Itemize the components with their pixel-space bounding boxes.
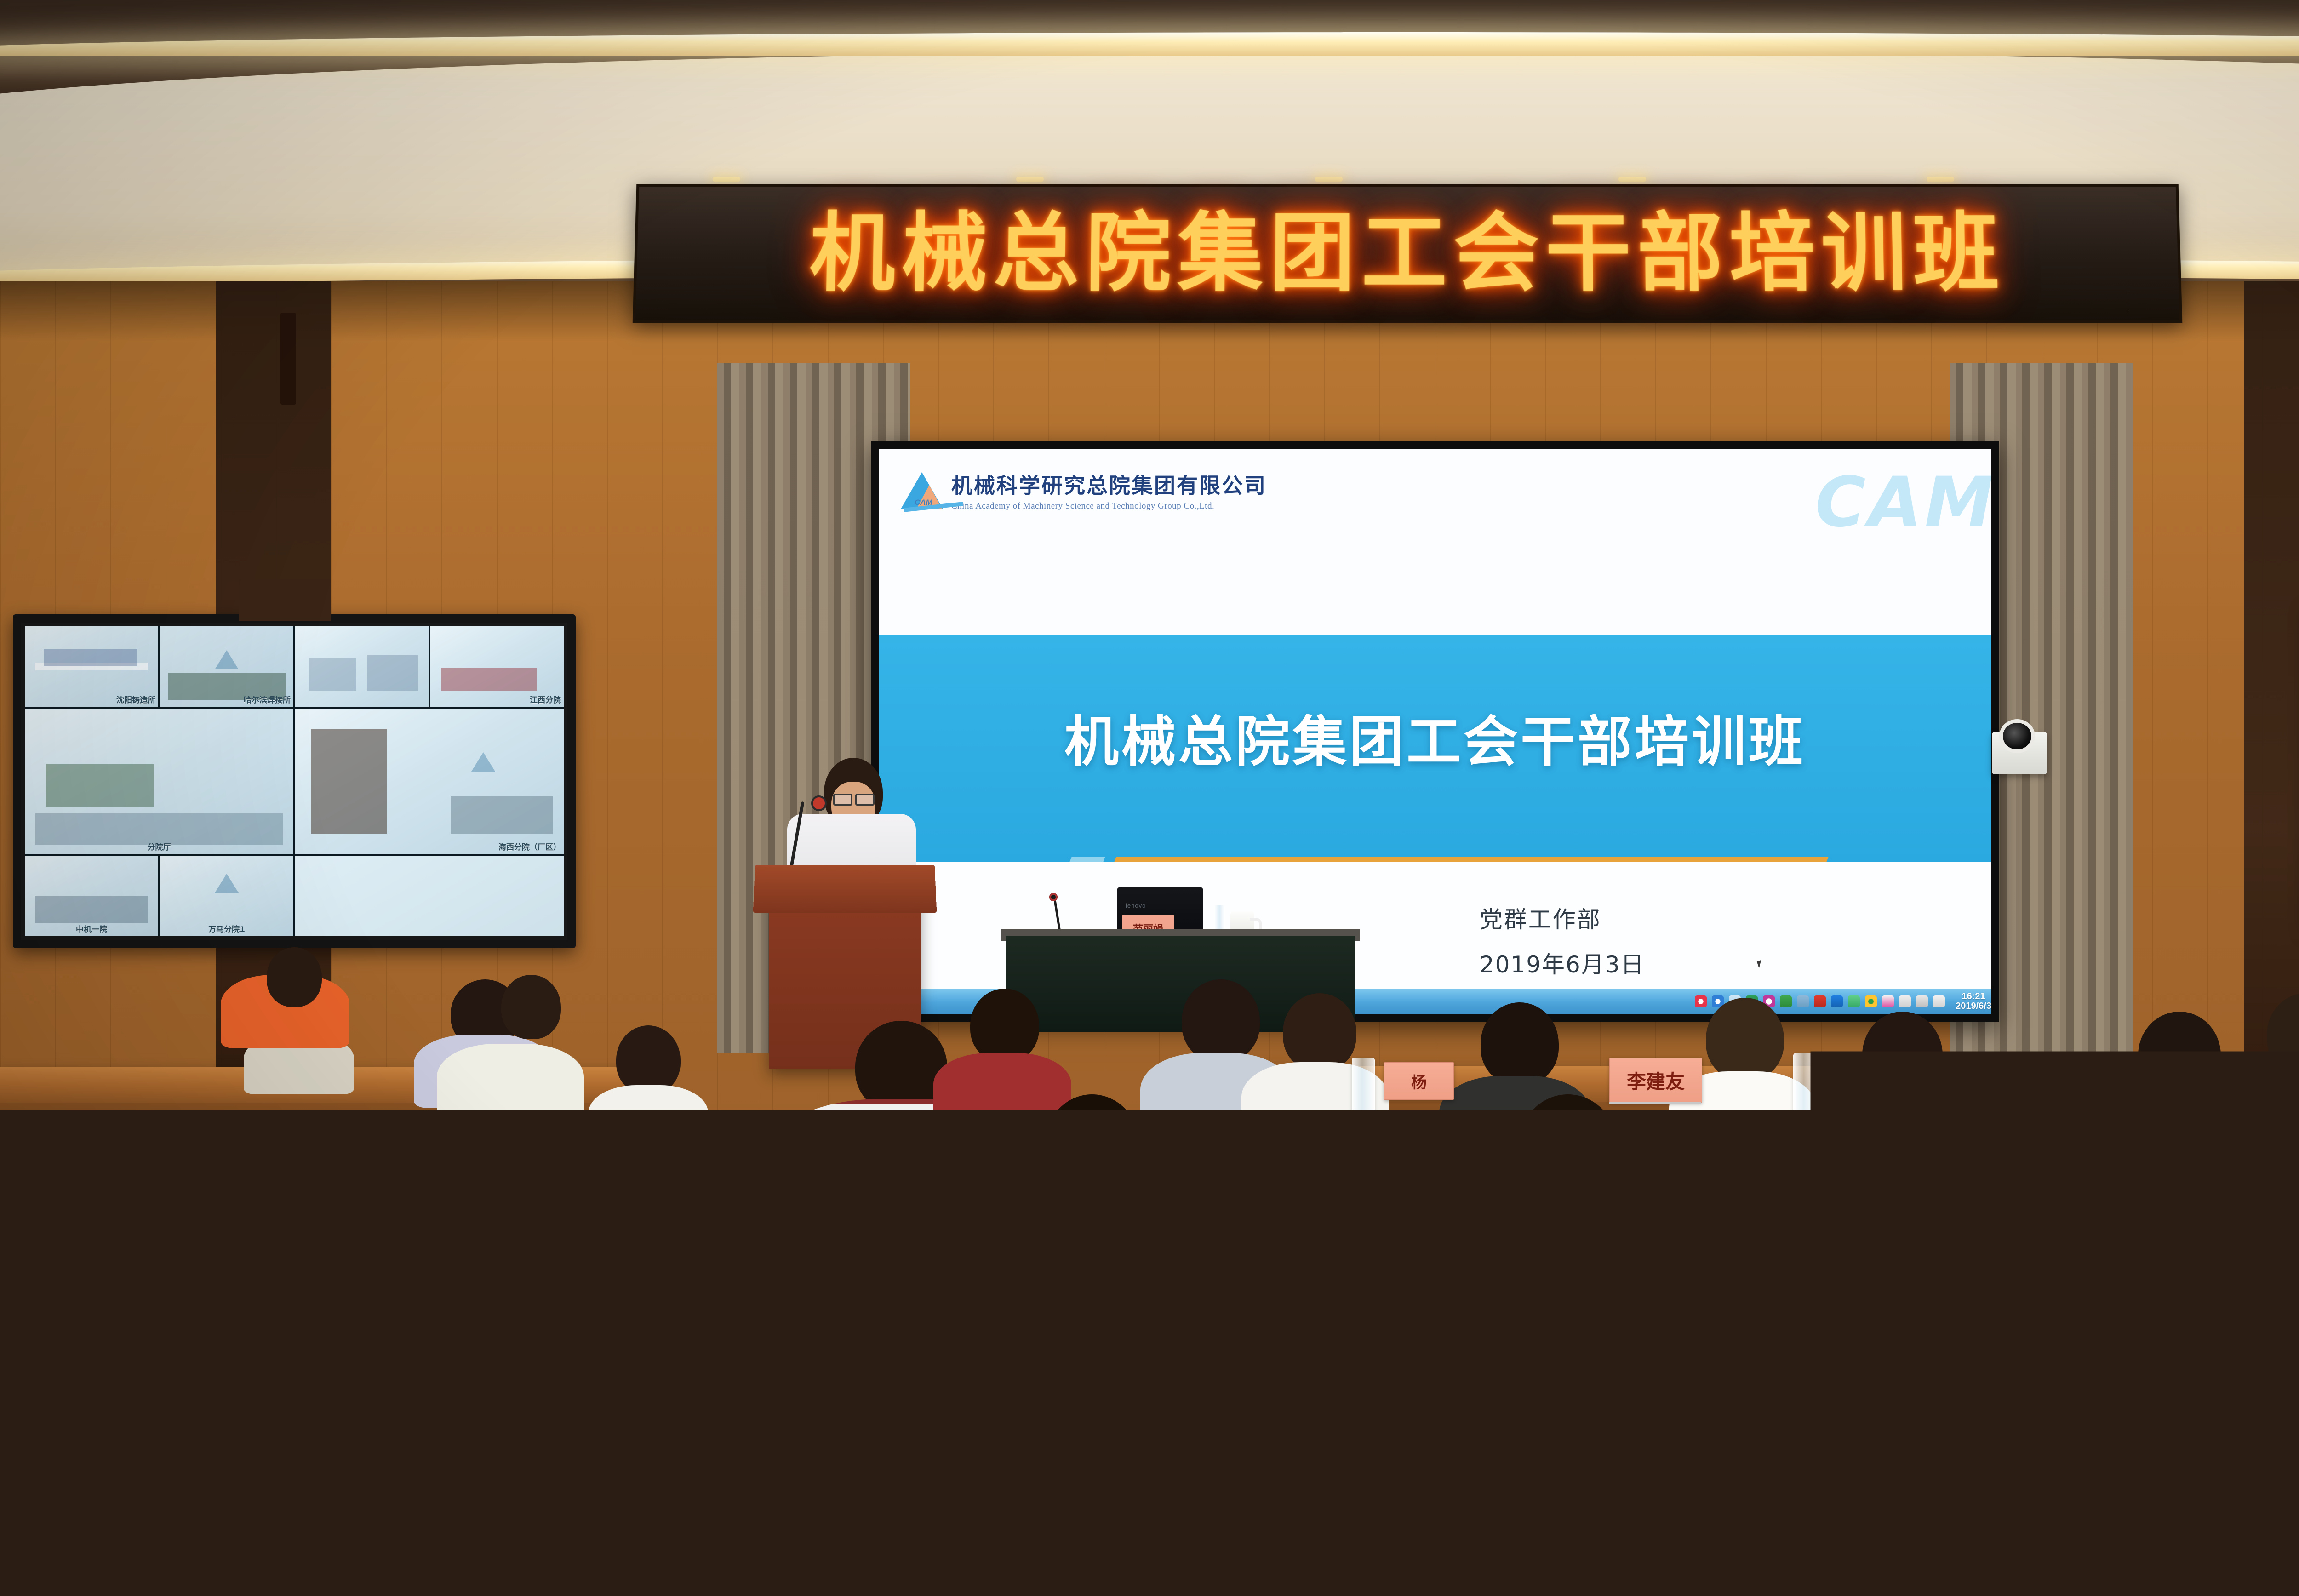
bottle-cap: [1220, 1367, 1240, 1379]
attendee: [933, 989, 1071, 1108]
network-icon[interactable]: [1848, 995, 1860, 1007]
video-cell-label: 中机一院: [76, 923, 107, 934]
logo-cam-text: CAM: [915, 498, 932, 507]
office-chair: [469, 1241, 644, 1352]
speaker-icon[interactable]: [1933, 995, 1945, 1007]
attendee-body: [2106, 1366, 2299, 1596]
attendee: [0, 1333, 239, 1596]
water-bottle: [322, 1393, 353, 1509]
video-cell-label: 哈尔滨焊接所: [244, 693, 291, 705]
video-cell-label: 沈阳铸造所: [116, 693, 155, 705]
attendee: [460, 975, 589, 1081]
video-cell: 哈尔滨焊接所: [160, 626, 293, 707]
attendee-head: [267, 947, 322, 1007]
water-bottle: [1237, 1196, 1263, 1288]
water-bottle: [2023, 1067, 2046, 1146]
water-bottle: [1582, 1177, 1607, 1265]
attendee: [28, 1113, 193, 1269]
video-cell-label: 海西分院（厂区）: [498, 841, 561, 852]
bottle-cap: [328, 1386, 347, 1397]
video-cell: 分院厅: [25, 709, 293, 854]
video-cell: 海西分院（厂区）: [295, 709, 564, 854]
flag-icon[interactable]: [1882, 995, 1894, 1007]
attendee-head: [1283, 993, 1356, 1071]
attendee-head: [2267, 993, 2299, 1076]
attendee: [221, 947, 349, 1039]
video-cell: 江西分院: [430, 626, 564, 707]
attendee-body: [2230, 1067, 2299, 1163]
taskbar-clock[interactable]: 16:21 2019/6/3: [1956, 992, 1991, 1011]
video-cell-label: 分院厅: [148, 841, 171, 852]
taskbar-date: 2019/6/3: [1956, 1001, 1991, 1011]
nameplate-stand: [428, 1155, 515, 1158]
video-cell: 万马分院1: [160, 856, 293, 936]
bottle-cap: [33, 1253, 51, 1264]
podium-top: [753, 865, 937, 912]
water-bottle: [313, 1122, 338, 1215]
cam-watermark: CAM: [1815, 463, 1991, 543]
logo-english-name: China Academy of Machinery Science and T…: [951, 501, 1267, 511]
attendee-head: [970, 989, 1039, 1062]
nameplate-text: 李建友: [1627, 1066, 1685, 1094]
office-chair: [1793, 1232, 1986, 1352]
attendee-head: [501, 975, 561, 1039]
slide-department: 党群工作部: [1480, 901, 1601, 934]
led-banner: 机械总院集团工会干部培训班: [633, 184, 2183, 323]
attendee: [2106, 1205, 2299, 1596]
attendee-head: [1862, 1012, 1943, 1099]
bluetooth-icon[interactable]: [1831, 995, 1843, 1007]
notebook: [1605, 1113, 1733, 1145]
handbag: [570, 1361, 708, 1476]
water-bottle: [800, 1361, 829, 1472]
banner-spotlights: [644, 177, 2170, 184]
tv-mount-left: [239, 579, 331, 621]
wall-vent-left: [280, 313, 296, 405]
video-cell: [295, 626, 429, 707]
water-bottle: [1352, 1058, 1375, 1135]
led-banner-text: 机械总院集团工会干部培训班: [636, 211, 2179, 296]
glasses-icon: [833, 794, 875, 803]
video-cell-label: 江西分院: [530, 693, 561, 705]
attendee-body: [1536, 1508, 1821, 1596]
ptz-camera-icon: [2003, 723, 2031, 749]
video-cell-empty: [295, 856, 564, 936]
document-paper: [1058, 1352, 1223, 1402]
attendee-body: [9, 1476, 239, 1596]
company-logo: CAM 机械科学研究总院集团有限公司 China Academy of Mach…: [901, 469, 1267, 511]
laptop-brand-label: lenovo: [1126, 902, 1146, 909]
document-paper: [451, 1513, 644, 1573]
attendee-head: [616, 1025, 681, 1094]
attendee-head: [51, 1333, 189, 1490]
slide-date: 2019年6月3日: [1480, 946, 1645, 979]
logo-chinese-name: 机械科学研究总院集团有限公司: [951, 469, 1267, 499]
attendee-head: [1044, 1094, 1140, 1200]
conference-room-photo: 机械总院集团工会干部培训班 CAM CAM 机械科学研究总院集团有限公司 Chi…: [0, 0, 2299, 1596]
attendee: [589, 1025, 708, 1136]
video-cell-label: 万马分院1: [208, 923, 245, 934]
attendee-head: [1706, 998, 1784, 1081]
podium-microphone-icon: [813, 797, 825, 809]
water-bottle: [612, 1150, 636, 1239]
slide-title: 机械总院集团工会干部培训班: [879, 698, 1991, 776]
attendee: [1536, 1232, 1821, 1596]
video-conference-grid-left: 沈阳铸造所 哈尔滨焊接所 江西分院 分院厅 海西分院（厂区） 中机一院 万马分院…: [25, 626, 564, 936]
nameplate-text: 程丽娟: [444, 1121, 499, 1148]
video-cell: 沈阳铸造所: [25, 626, 158, 707]
taskbar-time: 16:21: [1956, 992, 1991, 1001]
nameplate-text: 杨: [1411, 1070, 1427, 1093]
office-chair: [1310, 1232, 1504, 1361]
notebook: [2065, 1131, 2184, 1161]
document-paper: [2087, 1177, 2225, 1218]
attendee-head: [2074, 1071, 2175, 1182]
nameplate: 杨: [1384, 1062, 1454, 1100]
signal-icon[interactable]: [1916, 995, 1928, 1007]
table-microphone-icon: [1049, 893, 1058, 901]
cam-triangle-icon: CAM: [901, 471, 945, 509]
battery-icon[interactable]: [1899, 995, 1911, 1007]
office-chair: [2281, 1214, 2299, 1329]
video-wall-left: 沈阳铸造所 哈尔滨焊接所 江西分院 分院厅 海西分院（厂区） 中机一院 万马分院…: [13, 614, 576, 948]
video-cell: 中机一院: [25, 856, 158, 936]
handbag: [1986, 1389, 2124, 1527]
backpack: [1821, 1370, 1973, 1522]
attendee: [2230, 993, 2299, 1140]
water-bottle: [1991, 1163, 2016, 1251]
nameplate: 程丽娟: [428, 1113, 516, 1156]
water-bottle: [1793, 1053, 1816, 1132]
attendee-head: [653, 1122, 745, 1218]
water-bottle: [28, 1260, 57, 1367]
update-icon[interactable]: [1865, 995, 1877, 1007]
attendee-head: [69, 1113, 156, 1205]
attendee-head: [1481, 1002, 1559, 1085]
bottle-cap: [806, 1354, 823, 1365]
